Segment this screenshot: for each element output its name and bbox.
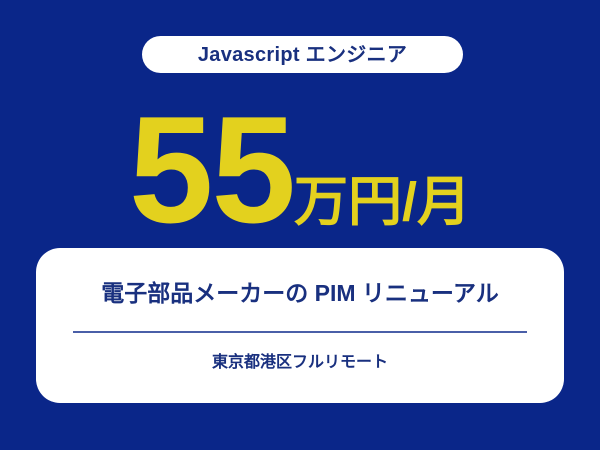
price-amount: 55	[129, 111, 294, 230]
project-title: 電子部品メーカーの PIM リニューアル	[101, 280, 499, 308]
project-card: 電子部品メーカーの PIM リニューアル 東京都港区フルリモート	[36, 248, 564, 403]
price-block: 55 万円/月	[0, 104, 600, 230]
job-offer-banner: Javascript エンジニア 55 万円/月 電子部品メーカーの PIM リ…	[0, 0, 600, 450]
job-category-badge: Javascript エンジニア	[142, 36, 463, 73]
project-location: 東京都港区フルリモート	[212, 353, 388, 372]
job-category-label: Javascript エンジニア	[198, 45, 407, 65]
price-unit: 万円/月	[294, 178, 471, 230]
card-divider	[73, 331, 527, 333]
